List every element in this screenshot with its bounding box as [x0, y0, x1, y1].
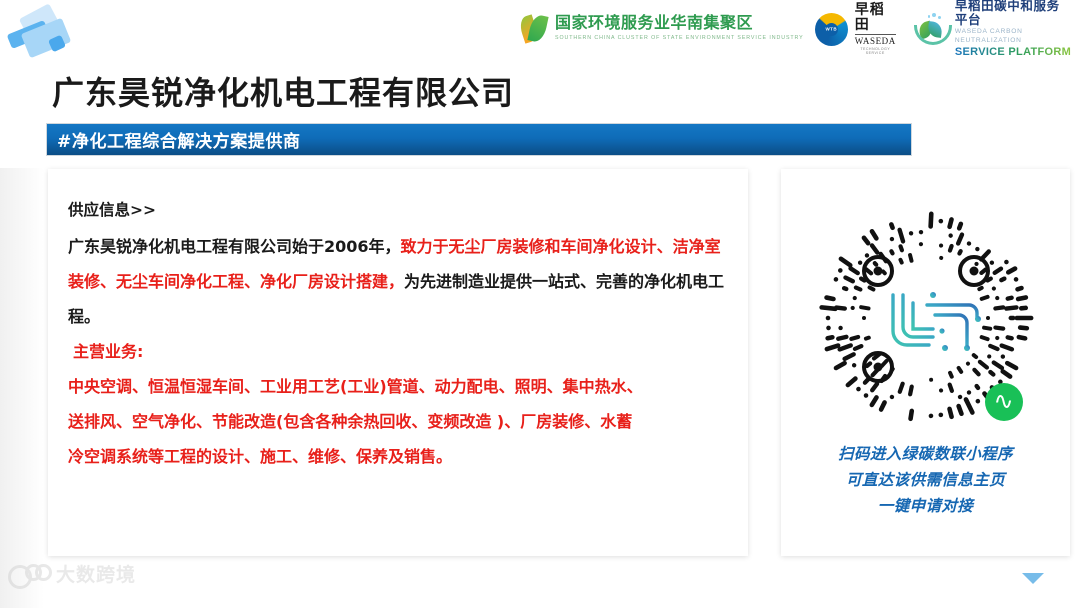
logo-waseda-en: WASEDA	[855, 34, 896, 47]
intro-black-1: 广东昊锐净化机电工程有限公司始于2006年，	[68, 237, 401, 256]
logo-state-env-cluster: 国家环境服务业华南集聚区 SOUTHERN CHINA CLUSTER OF S…	[520, 14, 799, 44]
logo-state-env-cluster-cn: 国家环境服务业华南集聚区	[555, 13, 753, 32]
logo-waseda-cn: 早稻田	[855, 3, 896, 32]
tagline-banner: #净化工程综合解决方案提供商	[46, 123, 912, 156]
qr-caption: 扫码进入绿碳数联小程序 可直达该供需信息主页 一键申请对接	[781, 441, 1070, 519]
decorative-triangle-icon	[1022, 573, 1044, 584]
business-line-2: 送排风、空气净化、节能改造(包含各种余热回收、变频改造 )、厂房装修、水蓄	[68, 404, 732, 439]
qr-code-card: ∿ 扫码进入绿碳数联小程序 可直达该供需信息主页 一键申请对接	[781, 169, 1070, 556]
qr-caption-line-2: 可直达该供需信息主页	[781, 467, 1070, 493]
intro-red-1: 致力于无尘厂房装修和车间净化设	[401, 237, 641, 256]
supply-info-label: 供应信息>>	[68, 195, 732, 225]
business-line-3: 冷空调系统等工程的设计、施工、维修、保养及销售。	[68, 439, 732, 474]
logo-state-env-cluster-en: SOUTHERN CHINA CLUSTER OF STATE ENVIRONM…	[555, 35, 804, 42]
hand-leaf-icon	[912, 12, 948, 46]
logo-waseda-carbon-platform: 早稻田碳中和服务平台 WASEDA CARBON NEUTRALIZATION …	[912, 0, 1072, 59]
qr-caption-line-1: 扫码进入绿碳数联小程序	[781, 441, 1070, 467]
decorative-ribbon-icon	[6, 8, 76, 60]
logo-carbon-platform-en: WASEDA CARBON NEUTRALIZATION	[955, 27, 1072, 46]
watermark-text: 大数跨境	[56, 560, 136, 587]
logo-carbon-platform-en-bold: SERVICE PLATFORM	[955, 46, 1072, 59]
intro-black-2: 为先进制造业提供一	[404, 272, 548, 291]
logo-waseda-en-sub: TECHNOLOGY SERVICE	[855, 47, 896, 55]
supply-info-card: 供应信息>> 广东昊锐净化机电工程有限公司始于2006年，致力于无尘厂房装修和车…	[48, 169, 748, 556]
page-title: 广东昊锐净化机电工程有限公司	[52, 68, 514, 114]
logo-carbon-platform-cn: 早稻田碳中和服务平台	[955, 0, 1072, 27]
supply-info-body: 供应信息>> 广东昊锐净化机电工程有限公司始于2006年，致力于无尘厂房装修和车…	[68, 195, 732, 474]
business-heading: 主营业务:	[68, 334, 732, 369]
header-logo-row: 国家环境服务业华南集聚区 SOUTHERN CHINA CLUSTER OF S…	[520, 4, 1072, 54]
dashukuajing-logo-icon	[8, 562, 50, 586]
qr-caption-line-3: 一键申请对接	[781, 493, 1070, 519]
logo-waseda: WTB 早稻田 WASEDA TECHNOLOGY SERVICE	[815, 3, 896, 54]
tagline-banner-text: #净化工程综合解决方案提供商	[47, 127, 301, 152]
slide-canvas: 国家环境服务业华南集聚区 SOUTHERN CHINA CLUSTER OF S…	[0, 0, 1080, 608]
lt-circuit-logo	[893, 295, 977, 347]
waseda-mark-text: WTB	[815, 27, 848, 32]
watermark: 大数跨境	[8, 560, 136, 587]
supply-info-paragraph: 广东昊锐净化机电工程有限公司始于2006年，致力于无尘厂房装修和车间净化设计、洁…	[68, 229, 732, 334]
wechat-miniprogram-icon: ∿	[985, 383, 1023, 421]
leaf-icon	[520, 14, 548, 44]
business-line-1: 中央空调、恒温恒湿车间、工业用工艺(工业)管道、动力配电、照明、集中热水、	[68, 369, 732, 404]
wechat-miniprogram-qr-code[interactable]: ∿	[815, 207, 1037, 429]
waseda-swirl-icon: WTB	[815, 13, 848, 46]
